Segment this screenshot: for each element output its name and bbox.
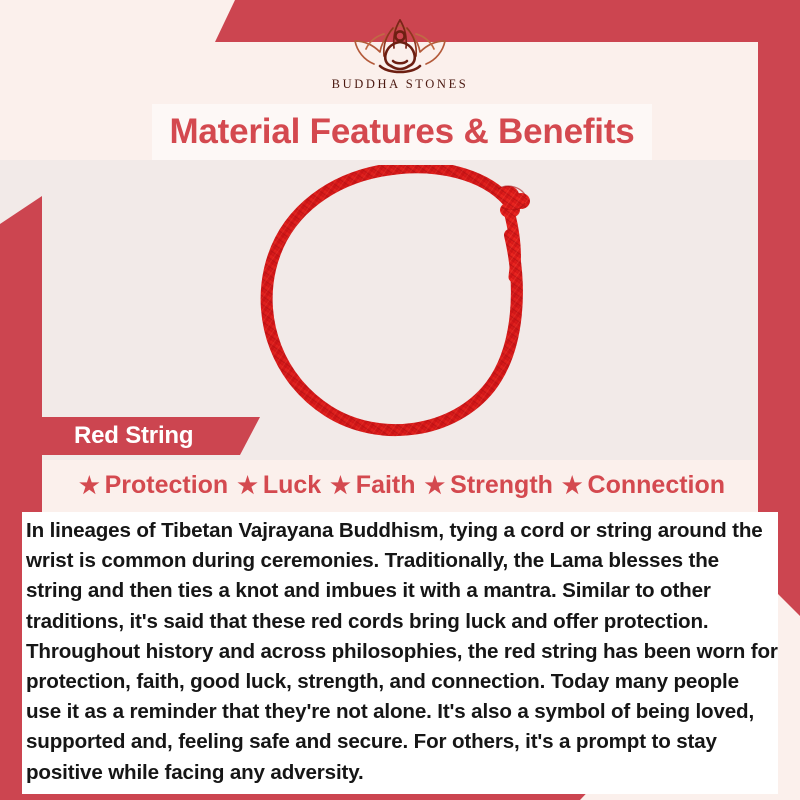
star-icon: ★ (425, 474, 446, 497)
infographic-page: BUDDHA STONES Material Features & Benefi… (0, 0, 800, 800)
red-string-banner-label: Red String (74, 422, 193, 450)
star-icon: ★ (562, 474, 583, 497)
benefit-label: Luck (263, 471, 321, 500)
red-string-banner: Red String (18, 417, 260, 455)
description-text: In lineages of Tibetan Vajrayana Buddhis… (26, 516, 778, 788)
red-braided-string-bracelet-icon (240, 165, 560, 455)
star-icon: ★ (79, 474, 100, 497)
benefit-label: Strength (450, 471, 553, 500)
benefits-list: ★ Protection ★ Luck ★ Faith ★ Strength ★… (42, 466, 762, 504)
benefit-label: Protection (105, 471, 229, 500)
benefit-item-luck: ★ Luck (237, 471, 321, 500)
page-title: Material Features & Benefits (169, 112, 634, 152)
lotus-meditation-figure-icon (336, 14, 464, 76)
benefit-item-connection: ★ Connection (562, 471, 725, 500)
brand-logo: BUDDHA STONES (0, 14, 800, 100)
hero-product-image (0, 160, 800, 460)
brand-wordmark: BUDDHA STONES (332, 77, 469, 92)
page-title-plate: Material Features & Benefits (152, 104, 652, 160)
description-block: In lineages of Tibetan Vajrayana Buddhis… (22, 512, 778, 794)
benefit-label: Connection (588, 471, 726, 500)
benefit-item-faith: ★ Faith (330, 471, 415, 500)
benefit-label: Faith (356, 471, 416, 500)
star-icon: ★ (237, 474, 258, 497)
benefit-item-strength: ★ Strength (425, 471, 553, 500)
benefit-item-protection: ★ Protection (79, 471, 228, 500)
star-icon: ★ (330, 474, 351, 497)
